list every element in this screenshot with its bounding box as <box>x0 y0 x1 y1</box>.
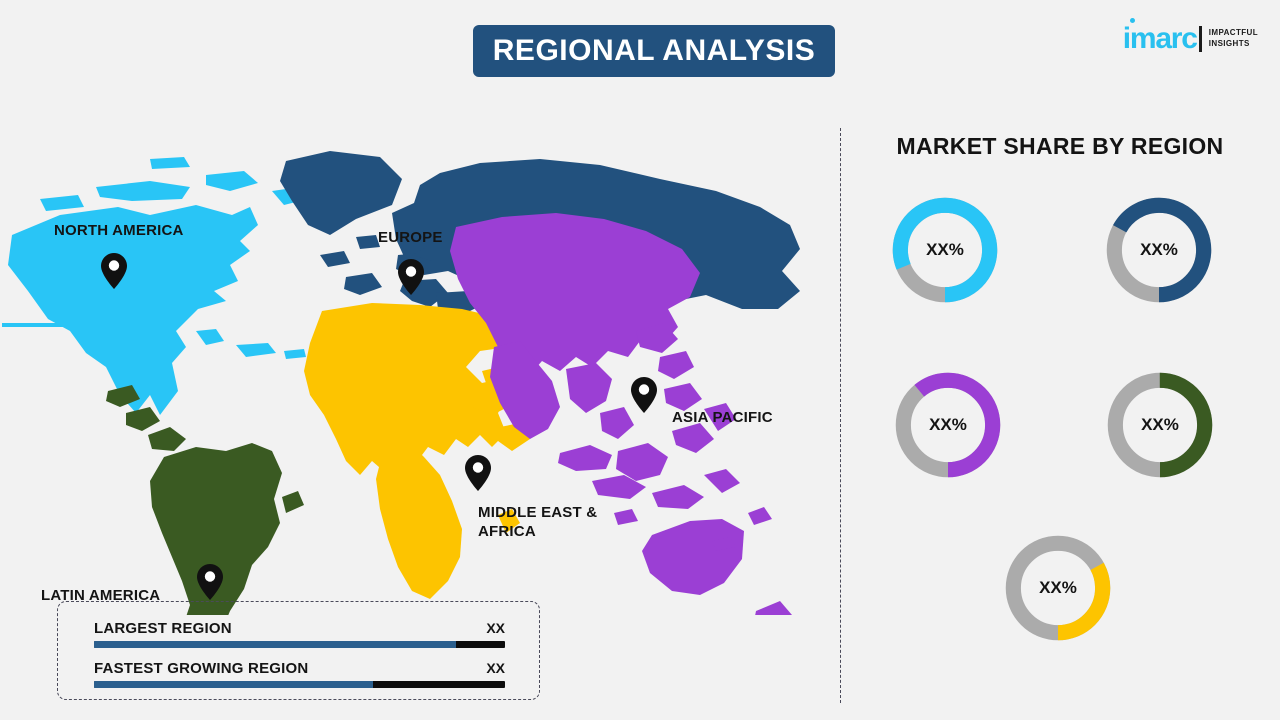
logo-dot-icon <box>1130 18 1135 23</box>
legend-label-fastest-growing-region: FASTEST GROWING REGION <box>94 660 308 677</box>
region-summary-card: LARGEST REGION XX FASTEST GROWING REGION… <box>57 601 540 700</box>
legend-value-fastest-growing-region: XX <box>486 660 505 676</box>
donut-chart-europe: XX% <box>1100 191 1218 309</box>
legend-bar-fastest-growing-region <box>94 681 505 688</box>
world-map-panel: NORTH AMERICA EUROPE ASIA PACIFIC MIDDLE… <box>0 95 830 615</box>
map-pin-icon-europe[interactable] <box>397 258 425 296</box>
logo-wordmark: imarc <box>1123 24 1197 54</box>
map-pin-icon-north-america[interactable] <box>100 252 128 290</box>
legend-row-fastest-growing-region: FASTEST GROWING REGION XX <box>94 660 505 688</box>
logo-tagline-line1: IMPACTFUL <box>1209 28 1258 39</box>
logo-tagline: IMPACTFUL INSIGHTS <box>1209 28 1258 50</box>
map-region-north-america <box>2 157 308 415</box>
donut-chart-asia-pacific: XX% <box>889 366 1007 484</box>
donut-chart-middle-east-africa: XX% <box>999 529 1117 647</box>
map-label-middle-east-africa: MIDDLE EAST & AFRICA <box>478 504 597 542</box>
map-pin-icon-middle-east-africa[interactable] <box>464 454 492 492</box>
legend-value-largest-region: XX <box>486 620 505 636</box>
imarc-logo: imarc IMPACTFUL INSIGHTS <box>1123 22 1258 56</box>
logo-divider <box>1199 26 1202 52</box>
donut-label-europe: XX% <box>1100 191 1218 309</box>
logo-word-text: imarc <box>1123 22 1197 55</box>
legend-bar-largest-region <box>94 641 505 648</box>
donut-label-middle-east-africa: XX% <box>999 529 1117 647</box>
donut-label-north-america: XX% <box>886 191 1004 309</box>
donut-label-latin-america: XX% <box>1101 366 1219 484</box>
legend-head-largest-region: LARGEST REGION XX <box>94 620 505 637</box>
legend-bar-fill-fastest-growing-region <box>94 681 373 688</box>
legend-row-largest-region: LARGEST REGION XX <box>94 620 505 648</box>
page-title-text: REGIONAL ANALYSIS <box>493 34 815 68</box>
map-pin-icon-asia-pacific[interactable] <box>630 376 658 414</box>
legend-head-fastest-growing-region: FASTEST GROWING REGION XX <box>94 660 505 677</box>
legend-bar-fill-largest-region <box>94 641 456 648</box>
market-share-title: MARKET SHARE BY REGION <box>840 133 1280 160</box>
world-map-svg <box>0 95 830 615</box>
map-label-europe: EUROPE <box>378 229 443 248</box>
logo-tagline-line2: INSIGHTS <box>1209 39 1258 50</box>
donut-chart-latin-america: XX% <box>1101 366 1219 484</box>
legend-label-largest-region: LARGEST REGION <box>94 620 232 637</box>
donut-label-asia-pacific: XX% <box>889 366 1007 484</box>
page-title: REGIONAL ANALYSIS <box>473 25 835 77</box>
map-pin-icon-latin-america[interactable] <box>196 563 224 601</box>
map-label-asia-pacific: ASIA PACIFIC <box>672 409 773 428</box>
donut-chart-north-america: XX% <box>886 191 1004 309</box>
panel-divider <box>840 128 841 703</box>
map-label-north-america: NORTH AMERICA <box>54 222 184 241</box>
